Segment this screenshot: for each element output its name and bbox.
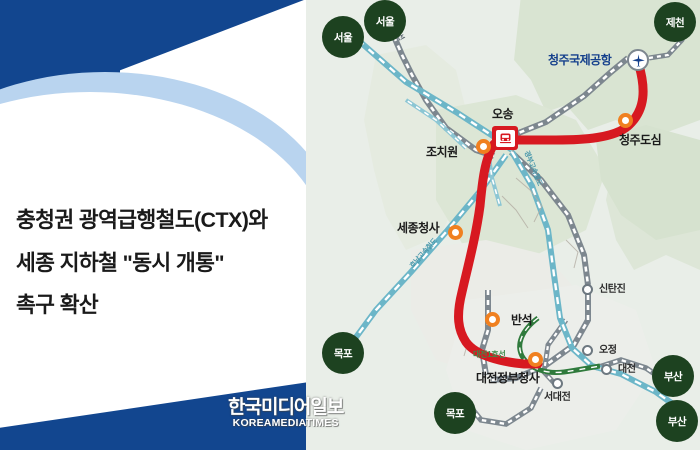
cheongju-airport-node[interactable]	[627, 49, 649, 71]
watermark-korean: 한국미디어일보	[228, 398, 343, 417]
ctx-route-map: 서울 서울 제천 목포 목포 부산 부산 청주국제공항	[316, 0, 700, 450]
city-bubble-busan-north[interactable]: 부산	[652, 355, 694, 397]
city-bubble-mokpo-west[interactable]: 목포	[322, 332, 364, 374]
osong-station-node[interactable]	[492, 126, 518, 150]
label-daejeon-line-1: 대전1호선	[473, 351, 505, 359]
news-card: 충청권 광역급행철도(CTX)와 세종 지하철 "동시 개통" 촉구 확산 한국…	[0, 0, 700, 450]
label-ojeong: 오정	[599, 346, 617, 356]
city-bubble-label: 부산	[668, 414, 686, 429]
headline-line-1: 충청권 광역급행철도(CTX)와	[16, 210, 312, 232]
train-glyph	[498, 132, 513, 145]
city-bubble-mokpo-south[interactable]: 목포	[434, 392, 476, 434]
headline-line-2: 세종 지하철 "동시 개통"	[16, 253, 312, 275]
node-daejeon-gov-complex[interactable]	[528, 352, 543, 367]
city-bubble-label: 목포	[446, 406, 464, 421]
label-osong: 오송	[492, 108, 513, 120]
city-bubble-jecheon[interactable]: 제천	[654, 2, 696, 42]
city-bubble-label: 제천	[666, 15, 684, 30]
label-cheongju-downtown: 청주도심	[619, 134, 661, 146]
label-cheongju-airport: 청주국제공항	[548, 54, 611, 66]
train-station-icon	[496, 130, 515, 147]
watermark-logo: 한국미디어일보 KOREAMEDIATIMES	[228, 398, 343, 429]
label-seodaejeon: 서대전	[544, 393, 570, 403]
label-daejeon-gov-complex: 대전정부청사	[476, 372, 539, 384]
city-bubble-seoul-west[interactable]: 서울	[322, 16, 364, 58]
label-daejeon: 대전	[618, 365, 636, 375]
node-ojeong[interactable]	[582, 345, 593, 356]
city-bubble-seoul-east[interactable]: 서울	[364, 0, 406, 42]
city-bubble-label: 서울	[376, 14, 394, 29]
headline-line-3: 촉구 확산	[16, 295, 312, 317]
node-sintanjin[interactable]	[582, 284, 593, 295]
headline-text: 충청권 광역급행철도(CTX)와 세종 지하철 "동시 개통" 촉구 확산	[16, 210, 312, 338]
city-bubble-label: 서울	[334, 30, 352, 45]
label-banseok: 반석	[511, 314, 532, 326]
node-seodaejeon[interactable]	[552, 378, 563, 389]
node-daejeon[interactable]	[601, 364, 612, 375]
node-sejong-complex[interactable]	[448, 225, 463, 240]
label-sintanjin: 신탄진	[599, 285, 625, 295]
node-cheongju-downtown[interactable]	[618, 113, 633, 128]
airplane-icon	[631, 53, 646, 68]
node-banseok[interactable]	[485, 312, 500, 327]
city-bubble-label: 목포	[334, 346, 352, 361]
city-bubble-label: 부산	[664, 369, 682, 384]
watermark-english: KOREAMEDIATIMES	[228, 418, 343, 429]
city-bubble-busan-south[interactable]: 부산	[656, 400, 698, 442]
label-jochiwon: 조치원	[426, 146, 458, 158]
label-sejong-complex: 세종청사	[397, 222, 439, 234]
node-jochiwon[interactable]	[476, 139, 491, 154]
headline-panel: 충청권 광역급행철도(CTX)와 세종 지하철 "동시 개통" 촉구 확산	[0, 0, 316, 450]
